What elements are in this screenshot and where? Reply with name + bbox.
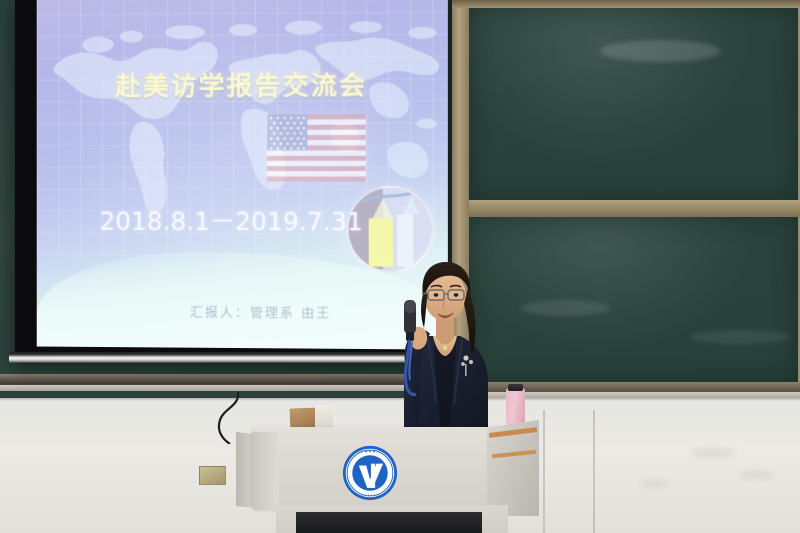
university-emblem: ★ ★ ★ ★ ★ • • • • • • • • • • bbox=[342, 445, 398, 501]
chalk-smudge bbox=[690, 330, 790, 344]
svg-text:• • • • • • • • • •: • • • • • • • • • • bbox=[355, 493, 385, 497]
podium-left-face bbox=[253, 432, 279, 510]
blackboard-top-rail bbox=[452, 0, 800, 8]
wall-panel-seam bbox=[593, 410, 595, 533]
wall-panel-seam bbox=[543, 410, 545, 533]
chalk-smudge bbox=[520, 300, 610, 316]
projection-screen: 赴美访学报告交流会 2018.8.1－2019.7.31 汇报人：管理系 由王 bbox=[15, 0, 439, 363]
podium-shelf-cavity bbox=[296, 512, 482, 533]
speaker-person bbox=[386, 252, 502, 448]
classroom-photo-scene: 赴美访学报告交流会 2018.8.1－2019.7.31 汇报人：管理系 由王 bbox=[0, 0, 800, 533]
chalk-smudge bbox=[600, 40, 720, 62]
left-chalk-ledge-edge bbox=[0, 385, 452, 391]
wall-junction-box bbox=[199, 466, 226, 485]
blackboard-divider-horizontal bbox=[456, 200, 800, 217]
white-carton bbox=[315, 405, 333, 429]
blackboard-panel-upper bbox=[468, 6, 798, 202]
wall-scuff bbox=[640, 480, 670, 488]
water-bottle-cap bbox=[508, 384, 523, 391]
slide-title: 赴美访学报告交流会 bbox=[37, 65, 448, 104]
wall-scuff bbox=[690, 448, 736, 458]
slide-date-range: 2018.8.1－2019.7.31 bbox=[37, 202, 448, 239]
projection-screen-bottom-bar bbox=[9, 352, 439, 363]
svg-text:★ ★ ★ ★ ★: ★ ★ ★ ★ ★ bbox=[361, 449, 380, 453]
blackboard-panel-lower bbox=[468, 216, 798, 382]
us-flag-image bbox=[267, 114, 366, 182]
wall-scuff bbox=[740, 470, 774, 479]
